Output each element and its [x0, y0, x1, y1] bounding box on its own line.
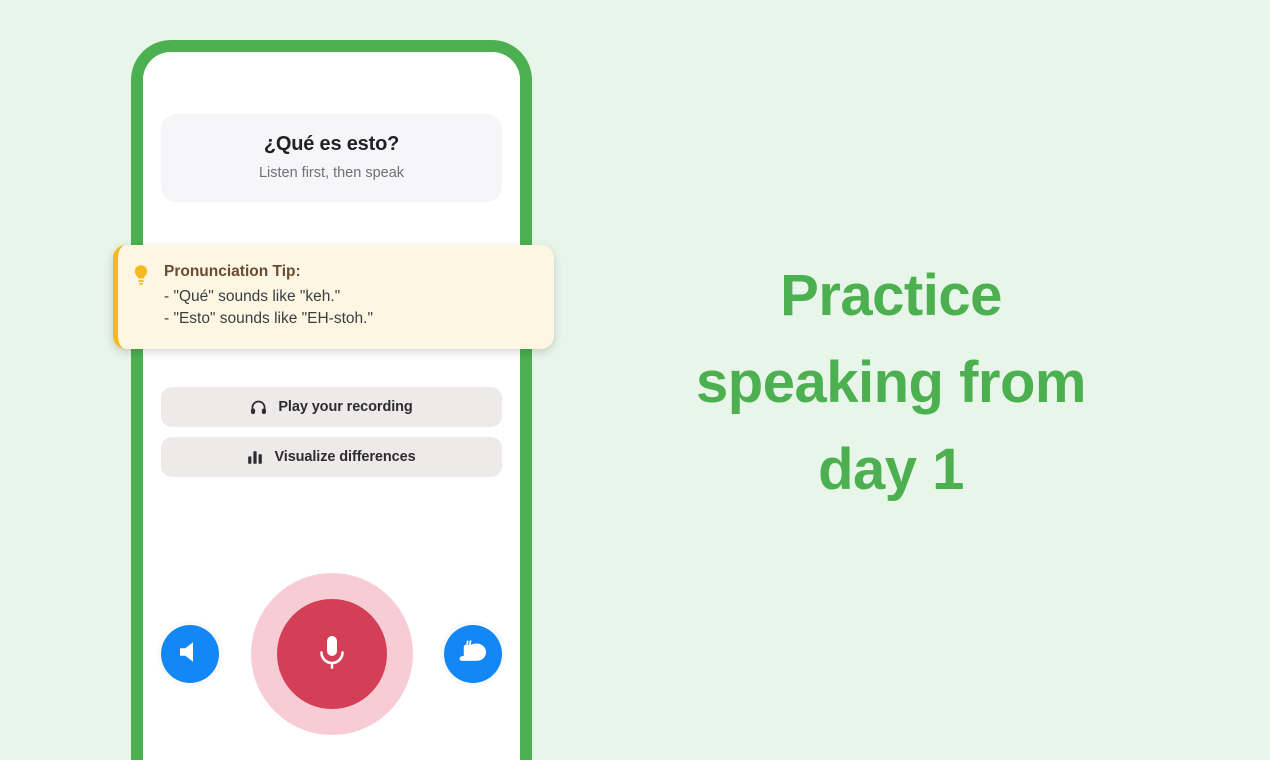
headline-line-2: speaking from — [636, 339, 1146, 426]
play-audio-button[interactable] — [161, 625, 219, 683]
tip-body: Pronunciation Tip: - "Qué" sounds like "… — [164, 262, 536, 330]
record-button[interactable] — [251, 573, 413, 735]
prompt-title: ¿Qué es esto? — [175, 132, 488, 156]
tip-line-2: - "Esto" sounds like "EH-stoh." — [164, 308, 536, 330]
headline-line-3: day 1 — [636, 426, 1146, 513]
record-control-row — [161, 571, 502, 736]
play-your-recording-label: Play your recording — [278, 399, 412, 415]
snail-icon — [456, 637, 490, 670]
lightbulb-icon — [132, 262, 152, 330]
play-your-recording-button[interactable]: Play your recording — [161, 387, 502, 427]
headline: Practice speaking from day 1 — [636, 252, 1146, 513]
play-slowly-button[interactable] — [444, 625, 502, 683]
speaker-icon — [175, 637, 205, 670]
pronunciation-tip-card: Pronunciation Tip: - "Qué" sounds like "… — [113, 245, 554, 349]
headphones-icon — [250, 399, 267, 416]
visualize-differences-label: Visualize differences — [274, 449, 415, 465]
microphone-icon — [312, 629, 352, 678]
bar-chart-icon — [247, 449, 263, 465]
tip-heading: Pronunciation Tip: — [164, 262, 536, 283]
prompt-card: ¿Qué es esto? Listen first, then speak — [161, 114, 502, 202]
phone-screen: ¿Qué es esto? Listen first, then speak P… — [143, 52, 520, 760]
visualize-differences-button[interactable]: Visualize differences — [161, 437, 502, 477]
tip-line-1: - "Qué" sounds like "keh." — [164, 286, 536, 308]
phone-frame: ¿Qué es esto? Listen first, then speak P… — [131, 40, 532, 760]
record-button-inner — [277, 599, 387, 709]
action-button-group: Play your recording Visualize difference… — [161, 387, 502, 477]
headline-line-1: Practice — [636, 252, 1146, 339]
prompt-subtitle: Listen first, then speak — [175, 165, 488, 182]
